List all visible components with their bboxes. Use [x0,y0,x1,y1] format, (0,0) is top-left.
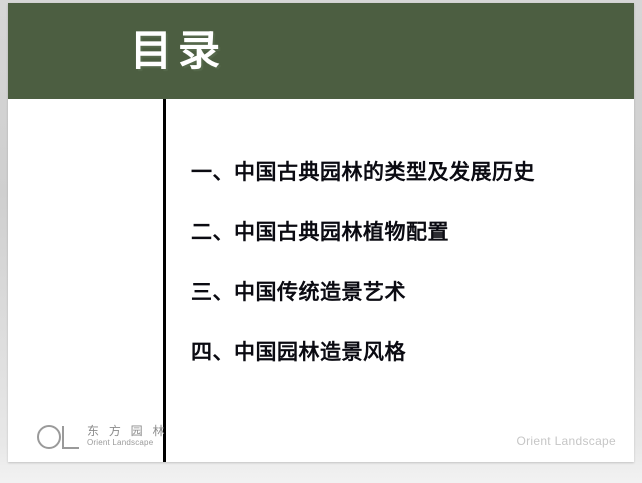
brand-name-cn: 东 方 园 林 [87,425,167,438]
title-banner: 目录 [8,3,634,99]
brand-wordmark: 东 方 园 林 Orient Landscape [87,425,167,450]
footer-watermark: Orient Landscape [516,434,616,448]
page-backdrop: 目录 一、中国古典园林的类型及发展历史 二、中国古典园林植物配置 三、中国传统造… [0,0,642,483]
list-item[interactable]: 三、中国传统造景艺术 [191,277,621,307]
list-item[interactable]: 二、中国古典园林植物配置 [191,217,621,247]
slide-canvas: 目录 一、中国古典园林的类型及发展历史 二、中国古典园林植物配置 三、中国传统造… [8,3,634,462]
table-of-contents: 一、中国古典园林的类型及发展历史 二、中国古典园林植物配置 三、中国传统造景艺术… [191,157,621,367]
list-item[interactable]: 一、中国古典园林的类型及发展历史 [191,157,621,187]
list-item[interactable]: 四、中国园林造景风格 [191,337,621,367]
brand-name-en: Orient Landscape [87,438,153,448]
page-title: 目录 [130,27,226,75]
ol-monogram-icon [36,424,80,450]
vertical-divider-rule [163,99,166,462]
brand-logo: 东 方 园 林 Orient Landscape [36,424,167,450]
